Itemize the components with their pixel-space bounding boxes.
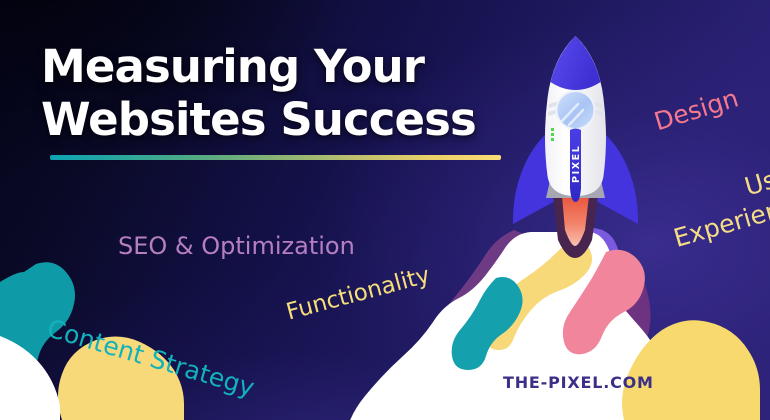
rocket: PIXEL — [513, 36, 638, 258]
site-url: THE-PIXEL.COM — [503, 373, 654, 392]
rocket-nose-cone — [551, 36, 601, 90]
rocket-indicator-dot-1 — [551, 128, 554, 131]
poster-canvas: PIXEL Measuring Your Websites Success SE… — [0, 0, 770, 420]
rocket-pixel-badge-label: PIXEL — [571, 145, 582, 183]
rocket-indicator-dot-2 — [551, 133, 554, 136]
headline-block: Measuring Your Websites Success — [41, 40, 511, 160]
keyword-seo-optimization: SEO & Optimization — [118, 232, 355, 260]
headline-line-2: Websites Success — [41, 93, 511, 146]
rocket-window — [557, 91, 595, 129]
rocket-indicator-dot-3 — [551, 138, 554, 141]
headline-line-1: Measuring Your — [41, 40, 511, 93]
title-underline-bar — [50, 155, 501, 160]
